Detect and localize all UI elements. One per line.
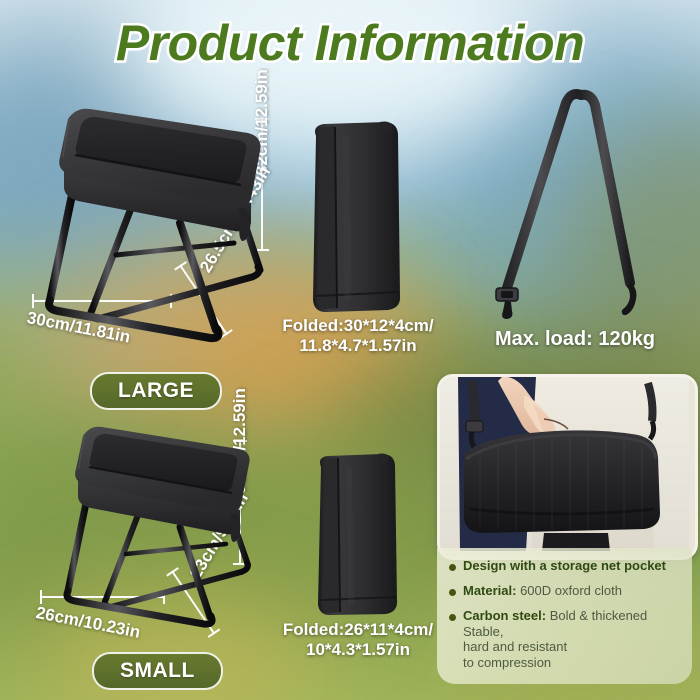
- product-image-folded-pouch-large: [302, 120, 412, 315]
- feature-desc: 600D oxford cloth: [516, 583, 622, 598]
- features-panel: Design with a storage net pocket Materia…: [437, 548, 692, 684]
- feature-label: Design with a storage net pocket: [463, 558, 666, 573]
- bullet-dot-icon: [449, 589, 456, 596]
- feature-item: Carbon steel: Bold & thickened Stable, h…: [447, 608, 682, 671]
- folded-caption-large: Folded:30*12*4cm/ 11.8*4.7*1.57in: [268, 316, 448, 355]
- product-image-shoulder-strap: [488, 85, 678, 320]
- product-image-small-stool: [40, 415, 290, 625]
- product-image-large-stool: [20, 95, 300, 345]
- lifestyle-photo-shoulder-carry: [437, 374, 698, 560]
- size-badge-large: LARGE: [90, 372, 222, 410]
- product-image-folded-pouch-small: [308, 452, 408, 617]
- bullet-dot-icon: [449, 564, 456, 571]
- folded-caption-small: Folded:26*11*4cm/ 10*4.3*1.57in: [268, 620, 448, 659]
- feature-label: Material:: [463, 583, 516, 598]
- feature-item: Design with a storage net pocket: [447, 558, 682, 574]
- feature-item: Material: 600D oxford cloth: [447, 583, 682, 599]
- max-load-caption: Max. load: 120kg: [470, 328, 680, 351]
- feature-label: Carbon steel:: [463, 608, 546, 623]
- page-title: Product Information: [0, 14, 700, 72]
- size-badge-small: SMALL: [92, 652, 223, 690]
- product-information-infographic: Product Information: [0, 0, 700, 700]
- bullet-dot-icon: [449, 614, 456, 621]
